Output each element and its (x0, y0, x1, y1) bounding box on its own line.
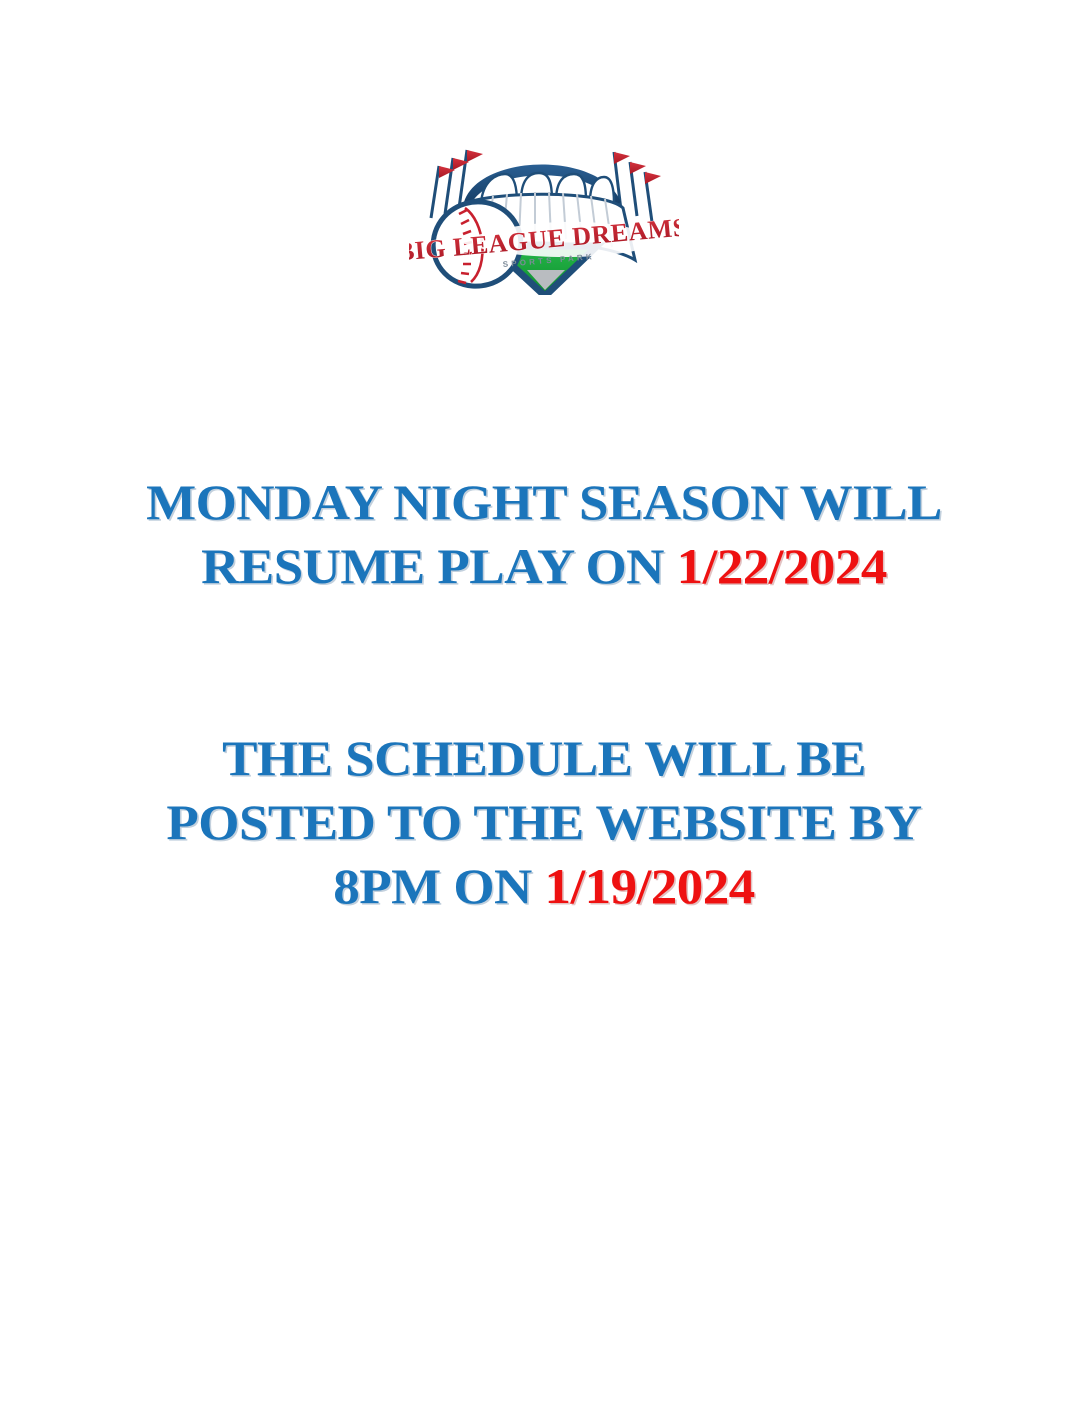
announcement-line-5: 8PM ON 1/19/2024 (0, 854, 1088, 918)
pennant-flag-shapes-right (614, 152, 661, 184)
announcement-line-3: THE SCHEDULE WILL BE (0, 726, 1088, 790)
line-4-text: POSTED TO THE WEBSITE BY (166, 794, 921, 850)
line-3-text: THE SCHEDULE WILL BE (222, 730, 866, 786)
schedule-posting-notice: THE SCHEDULE WILL BE POSTED TO THE WEBSI… (0, 726, 1088, 918)
flyer-page: BIG LEAGUE DREAMS SPORTS PARK MONDAY NIG… (0, 0, 1088, 1408)
announcement-line-2: RESUME PLAY ON 1/22/2024 (0, 534, 1088, 598)
pennant-flag-shapes-left (439, 150, 483, 178)
announcement-body: MONDAY NIGHT SEASON WILL RESUME PLAY ON … (0, 470, 1088, 918)
line-5-text: 8PM ON (333, 858, 544, 914)
paragraph-spacer (0, 598, 1088, 726)
big-league-dreams-logo: BIG LEAGUE DREAMS SPORTS PARK (409, 110, 679, 295)
announcement-line-1: MONDAY NIGHT SEASON WILL (0, 470, 1088, 534)
announcement-line-4: POSTED TO THE WEBSITE BY (0, 790, 1088, 854)
schedule-post-date: 1/19/2024 (544, 858, 754, 914)
resume-play-date: 1/22/2024 (677, 538, 887, 594)
line-1-text: MONDAY NIGHT SEASON WILL (146, 474, 942, 530)
line-2-text: RESUME PLAY ON (201, 538, 677, 594)
resume-play-notice: MONDAY NIGHT SEASON WILL RESUME PLAY ON … (0, 470, 1088, 598)
logo-artwork: BIG LEAGUE DREAMS SPORTS PARK (409, 110, 679, 295)
logo-container: BIG LEAGUE DREAMS SPORTS PARK (0, 110, 1088, 295)
